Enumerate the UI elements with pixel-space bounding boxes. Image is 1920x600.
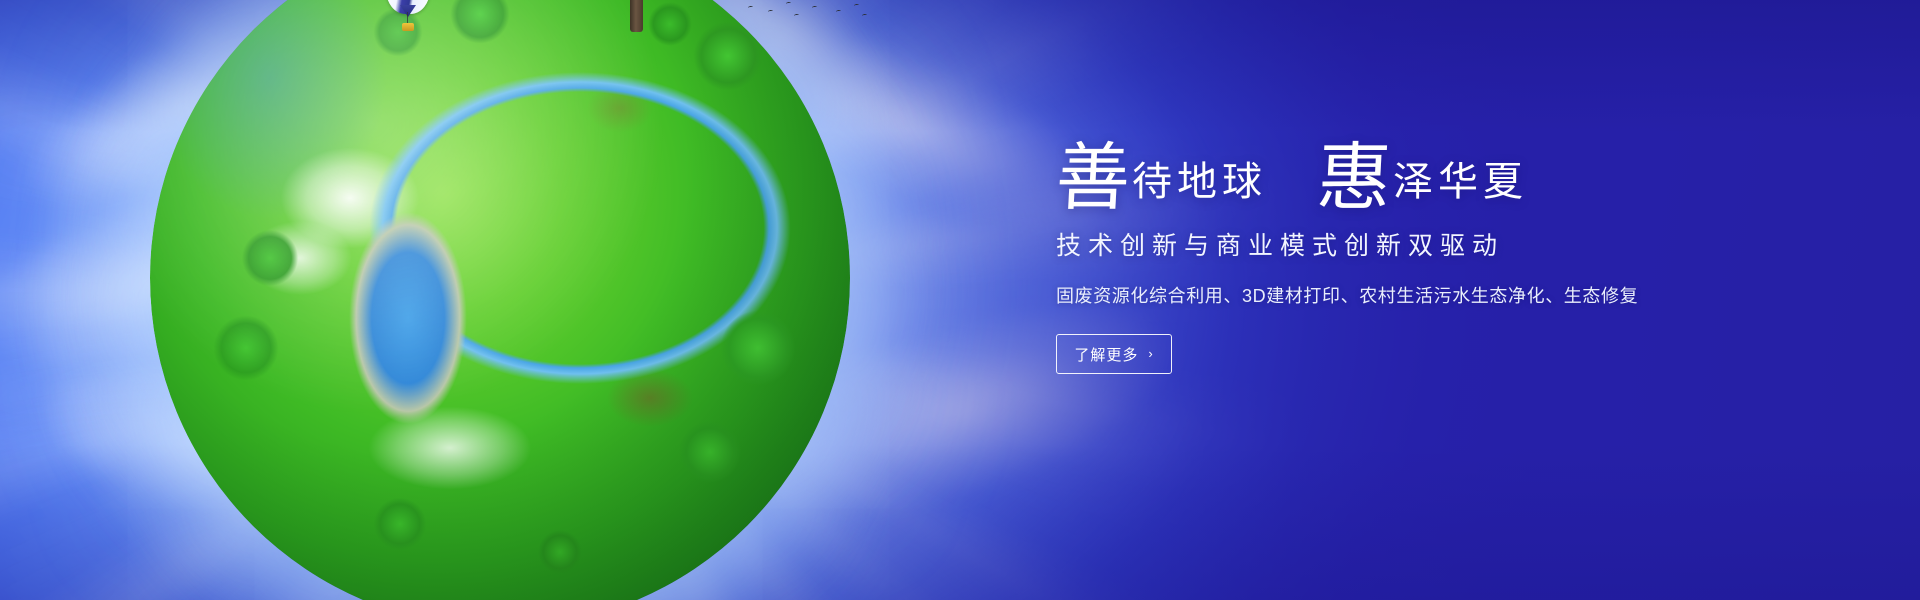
chevron-right-icon: › <box>1148 347 1153 360</box>
balloon-envelope <box>386 0 430 14</box>
balloon-basket <box>402 23 414 31</box>
hot-air-balloon-icon <box>386 0 430 40</box>
tree-trunk <box>630 0 643 32</box>
headline-phrase-2: 惠 泽华夏 <box>1317 140 1528 208</box>
headline-lead-char-1: 善 <box>1054 144 1132 212</box>
page-title: 善 待地球 惠 泽华夏 <box>1056 140 1756 208</box>
planet-surface <box>150 0 850 600</box>
headline-rest-1: 待地球 <box>1132 162 1267 208</box>
bird-flock-icon <box>742 0 872 22</box>
planet-artwork <box>150 0 850 600</box>
banner-description: 固废资源化综合利用、3D建材打印、农村生活污水生态净化、生态修复 <box>1056 282 1756 308</box>
headline-lead-char-2: 惠 <box>1315 144 1393 212</box>
learn-more-label: 了解更多 <box>1074 344 1138 365</box>
banner-subtitle: 技术创新与商业模式创新双驱动 <box>1056 226 1756 262</box>
headline-rest-2: 泽华夏 <box>1393 162 1528 208</box>
banner-content: 善 待地球 惠 泽华夏 技术创新与商业模式创新双驱动 固废资源化综合利用、3D建… <box>1056 140 1756 374</box>
headline-phrase-1: 善 待地球 <box>1056 140 1267 208</box>
tree-icon <box>558 0 718 34</box>
hero-banner: 善 待地球 惠 泽华夏 技术创新与商业模式创新双驱动 固废资源化综合利用、3D建… <box>0 0 1920 600</box>
green-planet <box>150 0 850 600</box>
learn-more-button[interactable]: 了解更多 › <box>1056 334 1172 374</box>
